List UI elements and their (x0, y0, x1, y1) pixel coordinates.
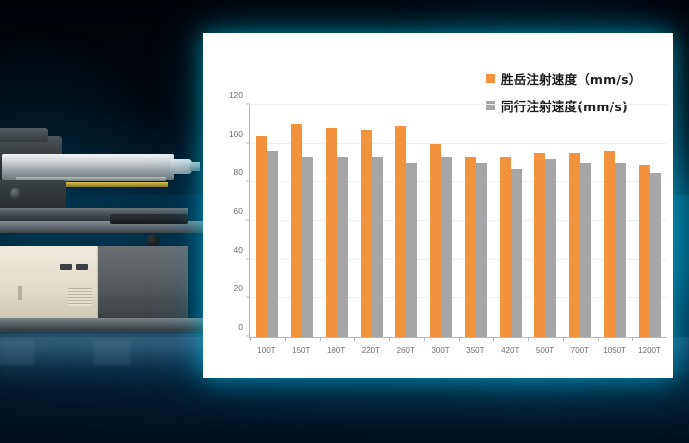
bar-group (528, 105, 563, 337)
plot-area: 020406080100120 (249, 105, 667, 338)
chart-panel: 胜岳注射速度（mm/s） 同行注射速度(mm/s) 02040608010012… (203, 33, 673, 378)
machine-vent-grille (68, 288, 92, 306)
bar-series-1[interactable] (406, 163, 417, 337)
x-tick-label: 220T (353, 346, 388, 355)
x-tick-label: 1050T (597, 346, 632, 355)
x-axis-labels: 100T150T180T220T260T300T350T420T500T700T… (249, 346, 667, 355)
machine-floor-reflection (0, 332, 232, 390)
x-tick-mark (354, 337, 355, 341)
bar-group (632, 105, 667, 337)
bar-series-1[interactable] (545, 159, 556, 337)
bar-series-1[interactable] (372, 157, 383, 337)
bar-group (354, 105, 389, 337)
x-tick-label: 700T (562, 346, 597, 355)
bar-series-0[interactable] (569, 153, 580, 337)
machine-nozzle (170, 159, 192, 174)
bar-series-1[interactable] (476, 163, 487, 337)
machine-switch-one (60, 264, 72, 270)
machine-drive-cap (0, 128, 48, 142)
y-tick-label: 100 (229, 129, 243, 139)
machine-nozzle-tip (190, 162, 200, 171)
bar-series-0[interactable] (639, 165, 650, 337)
x-tick-label: 100T (249, 346, 284, 355)
machine-cabinet-right (98, 246, 188, 318)
x-tick-label: 260T (388, 346, 423, 355)
slide-canvas: 胜岳注射速度（mm/s） 同行注射速度(mm/s) 02040608010012… (0, 0, 689, 443)
bar-group (459, 105, 494, 337)
bar-series-0[interactable] (395, 126, 406, 337)
bar-series-0[interactable] (430, 144, 441, 337)
bar-series-0[interactable] (361, 130, 372, 337)
machine-cabinet-left (0, 246, 98, 318)
y-tick-label: 120 (229, 90, 243, 100)
x-tick-mark (250, 337, 251, 341)
bar-group (563, 105, 598, 337)
bar-group (320, 105, 355, 337)
x-tick-label: 150T (284, 346, 319, 355)
x-tick-mark (459, 337, 460, 341)
bar-series-0[interactable] (604, 151, 615, 337)
machine-cabinets (0, 246, 218, 320)
machine-knob (10, 188, 21, 199)
x-tick-label: 420T (493, 346, 528, 355)
x-tick-mark (563, 337, 564, 341)
injection-molding-machine-photo (0, 128, 218, 246)
bar-series-1[interactable] (302, 157, 313, 337)
bar-series-0[interactable] (534, 153, 545, 337)
bar-groups (250, 105, 667, 337)
x-tick-mark (528, 337, 529, 341)
bar-group (493, 105, 528, 337)
y-tick-label: 40 (234, 245, 243, 255)
reflection-streak-a (0, 342, 34, 364)
x-tick-mark (285, 337, 286, 341)
bar-series-0[interactable] (500, 157, 511, 337)
y-tick-label: 80 (234, 167, 243, 177)
x-tick-mark (632, 337, 633, 341)
x-tick-mark (598, 337, 599, 341)
bar-series-1[interactable] (441, 157, 452, 337)
bar-group (598, 105, 633, 337)
x-tick-mark (424, 337, 425, 341)
x-tick-mark (389, 337, 390, 341)
bar-series-0[interactable] (256, 136, 267, 337)
plot-wrapper: 020406080100120 100T150T180T220T260T300T… (203, 33, 673, 378)
bar-series-1[interactable] (337, 157, 348, 337)
bar-series-1[interactable] (650, 173, 661, 337)
reflection-streak-b (94, 342, 130, 364)
x-tick-mark (493, 337, 494, 341)
machine-cabinet-handle (18, 286, 22, 300)
bar-series-0[interactable] (465, 157, 476, 337)
x-tick-label: 500T (528, 346, 563, 355)
bar-series-0[interactable] (291, 124, 302, 337)
x-tick-label: 300T (423, 346, 458, 355)
y-tick-label: 60 (234, 206, 243, 216)
bar-group (285, 105, 320, 337)
bar-series-1[interactable] (615, 163, 626, 337)
x-tick-label: 1200T (632, 346, 667, 355)
machine-platen (110, 214, 188, 224)
bar-group (424, 105, 459, 337)
x-tick-label: 180T (319, 346, 354, 355)
machine-base-strip (0, 318, 232, 332)
bar-group (250, 105, 285, 337)
bar-series-0[interactable] (326, 128, 337, 337)
bar-series-1[interactable] (580, 163, 591, 337)
bar-series-1[interactable] (511, 169, 522, 337)
y-tick-label: 20 (234, 283, 243, 293)
bar-series-1[interactable] (267, 151, 278, 337)
bar-group (389, 105, 424, 337)
x-tick-mark (320, 337, 321, 341)
y-tick-label: 0 (238, 322, 243, 332)
machine-switch-two (76, 264, 88, 270)
x-tick-label: 350T (458, 346, 493, 355)
